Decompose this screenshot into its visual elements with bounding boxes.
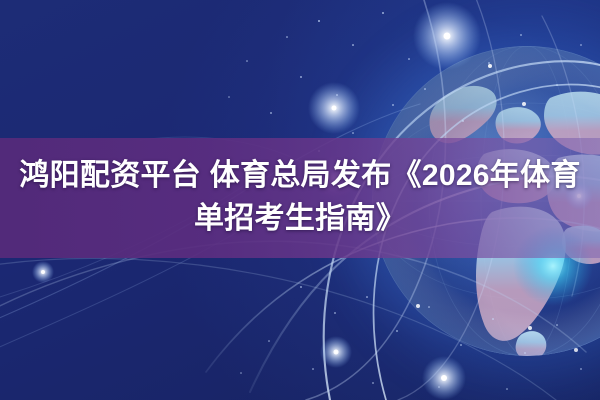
- article-banner: 鸿阳配资平台 体育总局发布《2026年体育单招考生指南》: [0, 0, 600, 400]
- title-band: 鸿阳配资平台 体育总局发布《2026年体育单招考生指南》: [0, 138, 600, 258]
- page-title: 鸿阳配资平台 体育总局发布《2026年体育单招考生指南》: [0, 155, 600, 240]
